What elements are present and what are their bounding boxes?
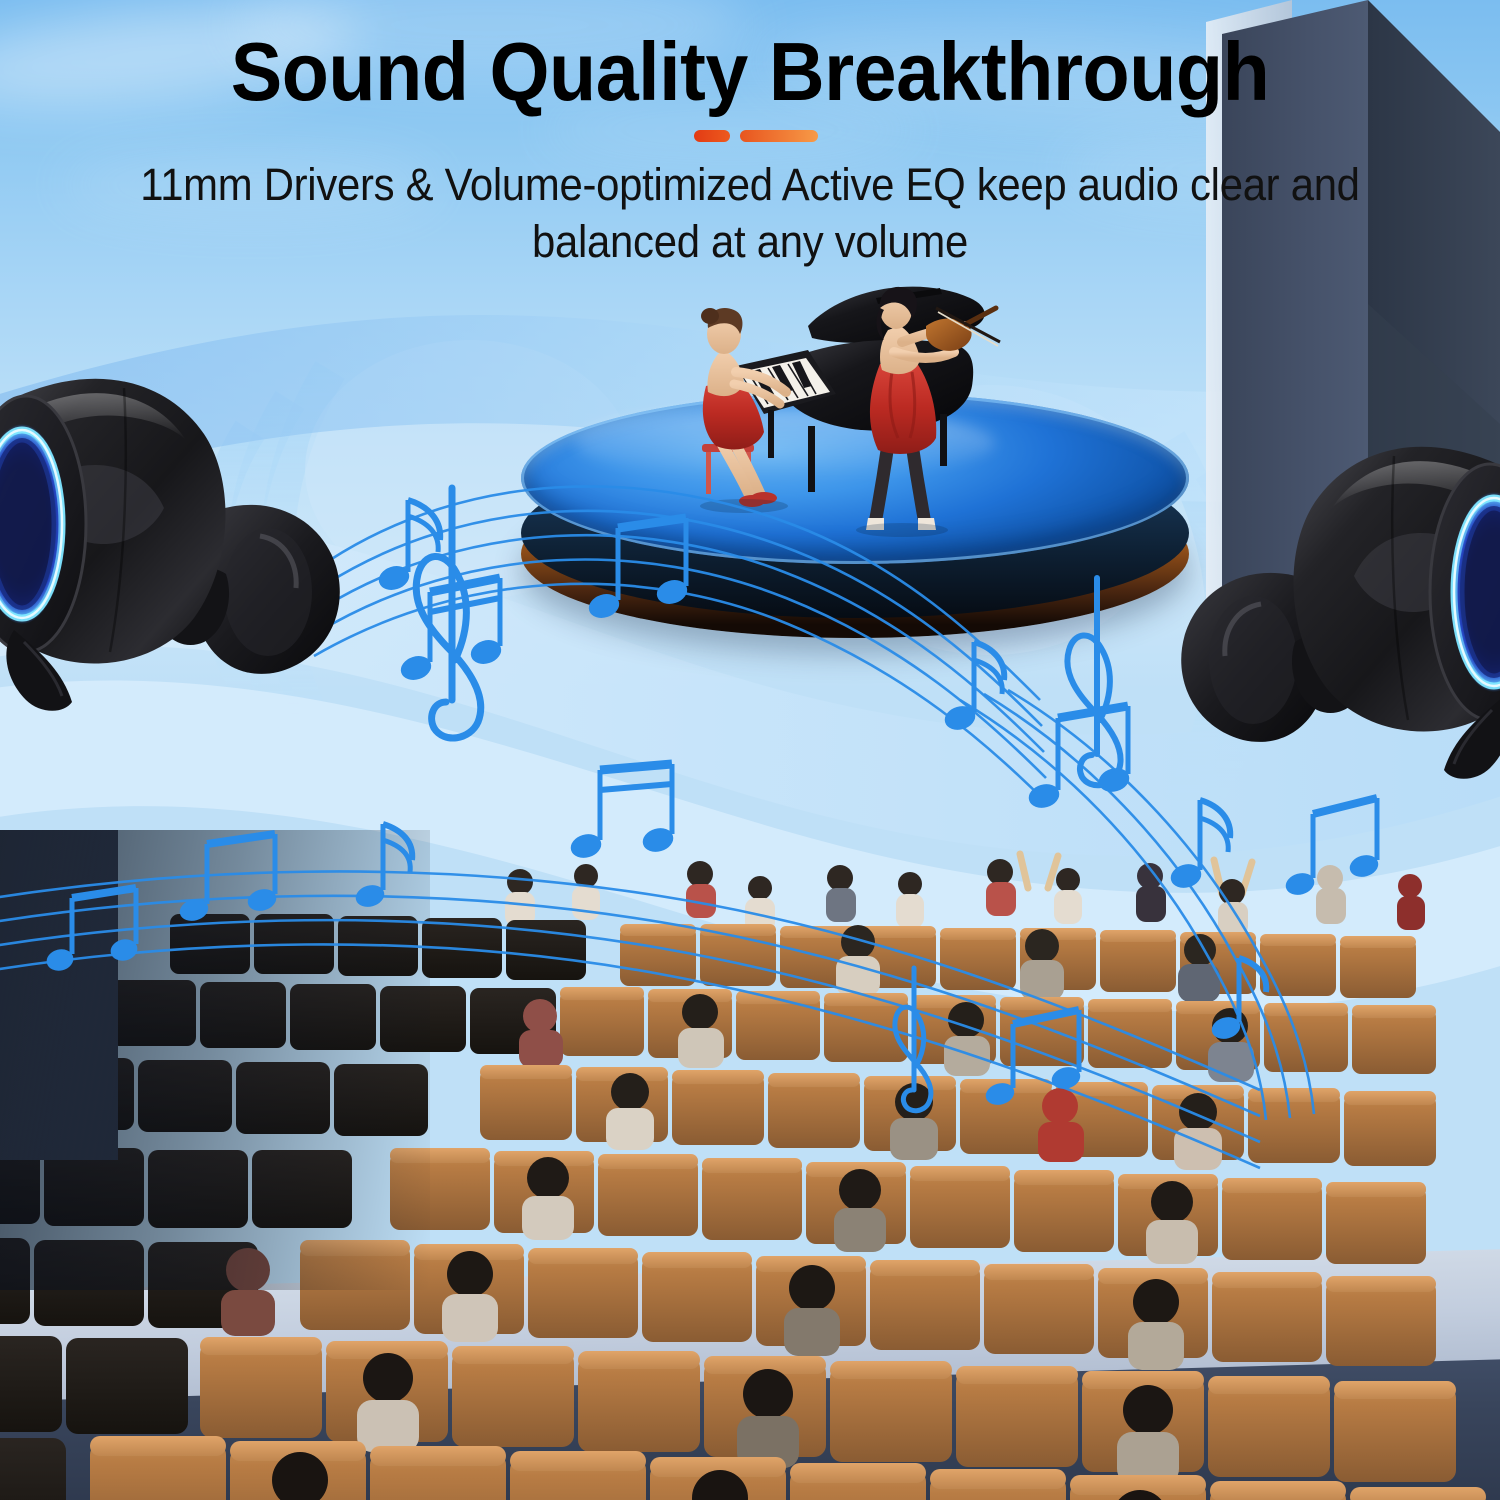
poster-header: Sound Quality Breakthrough 11mm Drivers … — [0, 0, 1500, 271]
earbud-left — [0, 330, 408, 750]
page-title: Sound Quality Breakthrough — [53, 0, 1448, 115]
product-feature-poster: Sound Quality Breakthrough 11mm Drivers … — [0, 0, 1500, 1500]
theater-audience — [0, 830, 1500, 1500]
earbud-right — [1118, 398, 1500, 813]
left-shadow-overlay — [0, 830, 430, 1290]
divider-pill-short — [694, 130, 730, 142]
divider-pill-long — [740, 130, 818, 142]
treble-clef-icon — [416, 488, 481, 738]
performers-group — [640, 268, 1100, 568]
accent-divider — [660, 128, 840, 142]
page-subtitle: 11mm Drivers & Volume-optimized Active E… — [90, 156, 1411, 271]
